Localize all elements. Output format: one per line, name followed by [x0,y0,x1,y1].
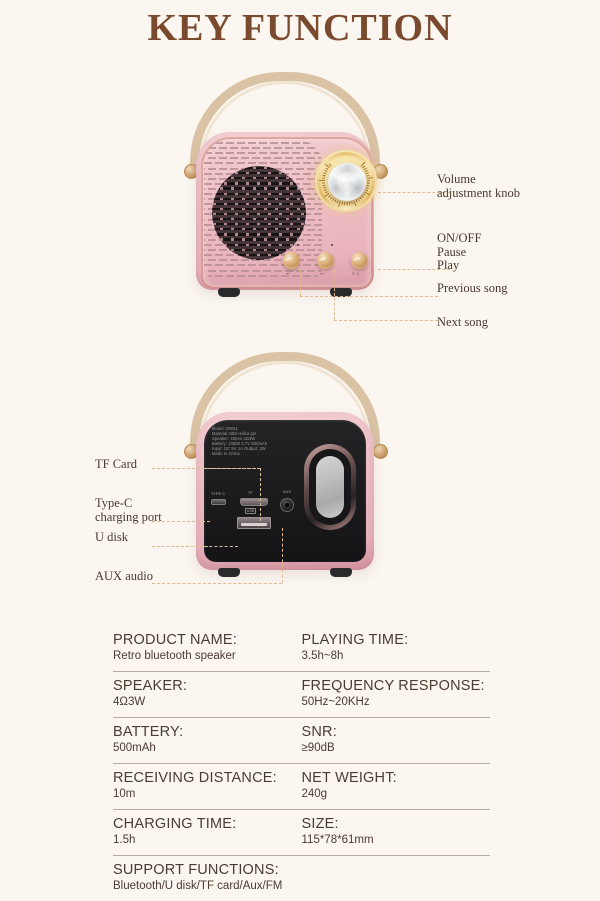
spec-cell: PLAYING TIME:3.5h~8h [302,632,491,664]
speaker-foot-left [218,288,240,297]
spec-cell: CHARGING TIME:1.5h [113,816,302,848]
dial-tick [341,202,343,206]
spec-value: Bluetooth/U disk/TF card/Aux/FM [113,879,490,894]
cone-slot-row [212,172,306,174]
spec-key: CHARGING TIME: [113,816,302,833]
grille-slot-row [204,152,322,154]
previous-song-knob-label: ⏮ [286,271,290,276]
speaker-grille [204,140,322,278]
power-play-knob[interactable] [351,252,368,269]
spec-value: 10m [113,787,302,802]
spec-cell: NET WEIGHT:240g [302,770,491,802]
cone-slot-row [212,218,306,220]
spec-key: SNR: [302,724,491,741]
dial-tick [367,180,370,181]
callout-label-type-c-charging-port: Type-C charging port [95,497,162,524]
callout-label-next-song: Next song [437,316,488,330]
grille-slot-row [204,142,322,144]
spec-cell: FREQUENCY RESPONSE:50Hz~20KHz [302,678,491,710]
speaker-driver-cone [212,166,306,260]
callout-label-u-disk: U disk [95,531,128,545]
infographic-page: KEY FUNCTION 889296100104108FM ⏮ ⏭ ⏻ ⏵ [0,0,600,900]
spec-key: SIZE: [302,816,491,833]
spec-row: RECEIVING DISTANCE:10mNET WEIGHT:240g [113,763,490,809]
spec-cell: PRODUCT NAME:Retro bluetooth speaker [113,632,302,664]
cone-slot-row [212,233,306,235]
spec-value: 240g [302,787,491,802]
tf-slot-label: TF [248,491,253,495]
callout-drop-next [334,269,335,320]
type-c-port[interactable] [211,499,226,505]
aux-jack-label: AUX [283,490,291,494]
grille-slot-row [204,275,322,277]
dial-tick [349,202,351,206]
speaker-back-illustration: Model: DW21 Material:ABS+silica gel Spea… [170,352,400,592]
spec-key: BATTERY: [113,724,302,741]
cone-slot-row [212,167,306,169]
cone-slot-row [212,193,306,195]
speaker-back-panel: Model: DW21 Material:ABS+silica gel Spea… [204,420,366,562]
spec-row: SUPPORT FUNCTIONS:Bluetooth/U disk/TF ca… [113,855,490,901]
spec-value: 115*78*61mm [302,833,491,848]
spec-row: CHARGING TIME:1.5hSIZE:115*78*61mm [113,809,490,855]
spec-cell: BATTERY:500mAh [113,724,302,756]
callout-label-volume-adjustment-knob: Volume adjustment knob [437,173,520,200]
callout-line-u-disk [152,546,208,547]
spec-cell: SNR:≥90dB [302,724,491,756]
spec-value: 1.5h [113,833,302,848]
spec-value: 4Ω3W [113,695,302,710]
aux-audio-jack[interactable] [280,498,294,512]
cone-slot-row [212,244,306,246]
spec-value: 3.5h~8h [302,649,491,664]
cone-slot-row [212,238,306,240]
callout-drop-previous [300,269,301,296]
callout-drop-tf-card [260,468,261,521]
next-song-knob-label: ⏭ [320,271,324,276]
callout-line-next [334,320,438,321]
handle-hinge-back-right [373,444,388,459]
callout-label-aux-audio: AUX audio [95,570,153,584]
printed-spec-label: Model: DW21 Material:ABS+silica gel Spea… [212,426,267,457]
specification-table: PRODUCT NAME:Retro bluetooth speakerPLAY… [113,626,490,901]
grille-slot-row [204,270,322,272]
speaker-back-foot-right [330,568,352,577]
spec-cell: RECEIVING DISTANCE:10m [113,770,302,802]
cone-slot-row [212,203,306,205]
speaker-front-illustration: 889296100104108FM ⏮ ⏭ ⏻ ⏵ [170,72,400,312]
volume-adjustment-knob[interactable] [328,163,366,201]
callout-line-previous [300,296,438,297]
spec-row: BATTERY:500mAhSNR:≥90dB [113,717,490,763]
page-title: KEY FUNCTION [0,6,600,50]
cone-slot-row [212,228,306,230]
spec-key: NET WEIGHT: [302,770,491,787]
callout-line-aux [152,583,282,584]
cone-slot-row [212,177,306,179]
callout-label-tf-card: TF Card [95,458,137,472]
cone-slot-row [212,187,306,189]
dial-tick [322,177,326,179]
previous-song-knob[interactable] [283,252,300,269]
grille-slot-row [204,264,322,266]
bass-port-membrane [316,456,344,518]
cone-slot-row [212,249,306,251]
cone-slot-row [212,213,306,215]
dial-tick [347,202,348,205]
tf-card-slot[interactable] [240,498,268,506]
spec-value: 500mAh [113,741,302,756]
usb-port-label: USB [245,508,256,514]
spec-row: PRODUCT NAME:Retro bluetooth speakerPLAY… [113,626,490,671]
spec-cell: SPEAKER:4Ω3W [113,678,302,710]
spec-value: Retro bluetooth speaker [113,649,302,664]
dial-tick [344,202,345,205]
spec-row: SPEAKER:4Ω3WFREQUENCY RESPONSE:50Hz~20KH… [113,671,490,717]
cone-slot-row [212,208,306,210]
cone-slot-row [212,223,306,225]
cone-slot-row [212,182,306,184]
grille-slot-row [204,162,322,164]
spec-key: SPEAKER: [113,678,302,695]
spec-value: ≥90dB [302,741,491,756]
led-indicator-2 [331,244,333,246]
dial-tick [319,180,325,181]
spec-key: SUPPORT FUNCTIONS: [113,862,490,879]
dial-tick [367,177,373,179]
led-indicator-1 [297,244,299,246]
spec-cell: SUPPORT FUNCTIONS:Bluetooth/U disk/TF ca… [113,862,490,894]
usb-port[interactable] [237,517,271,529]
next-song-knob[interactable] [317,252,334,269]
callout-label-power-pause-play: ON/OFF Pause Play [437,232,481,273]
callout-line-u-disk-inner [204,546,238,547]
grille-slot-row [204,157,322,159]
type-c-port-label: TYPE C [211,492,225,496]
spec-key: FREQUENCY RESPONSE: [302,678,491,695]
spec-key: RECEIVING DISTANCE: [113,770,302,787]
dial-tick [367,182,370,183]
callout-line-tf-card-inner [204,468,261,469]
callout-drop-aux [282,528,283,583]
spec-key: PRODUCT NAME: [113,632,302,649]
callout-label-previous-song: Previous song [437,282,508,296]
grille-slot-row [204,147,322,149]
dial-tick [322,175,326,177]
spec-value: 50Hz~20KHz [302,695,491,710]
speaker-back-foot-left [218,568,240,577]
spec-key: PLAYING TIME: [302,632,491,649]
spec-cell: SIZE:115*78*61mm [302,816,491,848]
power-play-knob-label: ⏻ ⏵ [352,271,359,276]
cone-slot-row [212,198,306,200]
